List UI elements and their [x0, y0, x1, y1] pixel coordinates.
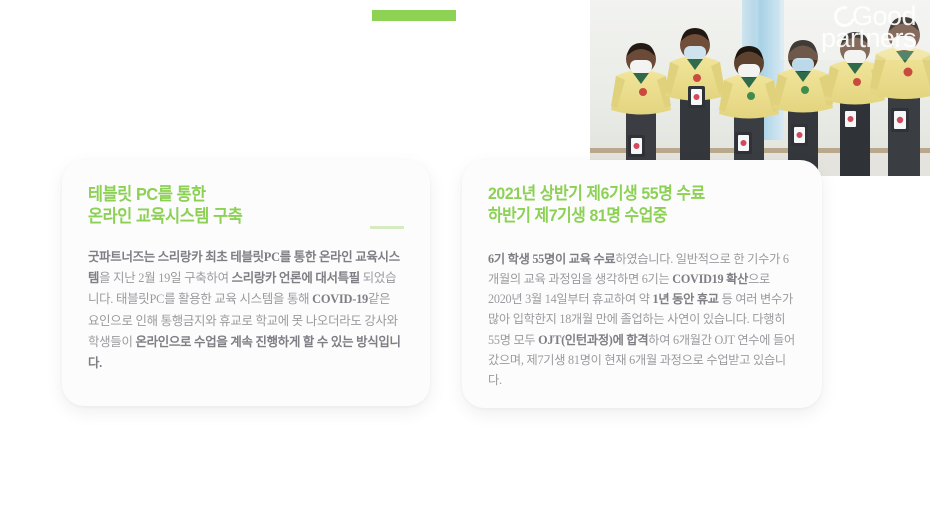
card-title: 2021년 상반기 제6기생 55명 수료 하반기 제7기생 81명 수업중 — [488, 183, 774, 227]
graduation-stats-card[interactable]: 2021년 상반기 제6기생 55명 수료 하반기 제7기생 81명 수업중 6… — [462, 160, 822, 408]
card-content: 테블릿 PC를 통한 온라인 교육시스템 구축 굿파트너즈는 스리랑카 최초 테… — [62, 160, 430, 406]
presentation-slide: Six graduates in yellow polo shirts with… — [0, 0, 930, 523]
graduates-photo: Six graduates in yellow polo shirts with… — [590, 0, 930, 176]
top-accent-bar — [372, 10, 456, 21]
card-title: 테블릿 PC를 통한 온라인 교육시스템 구축 — [88, 183, 382, 228]
card-body-text: 6기 학생 55명이 교육 수료하였습니다. 일반적으로 한 기수가 6개월의 … — [488, 249, 796, 391]
card-body-text: 굿파트너즈는 스리랑카 최초 테블릿PC를 통한 온라인 교육시스템을 지난 2… — [88, 247, 404, 375]
card-content: 2021년 상반기 제6기생 55명 수료 하반기 제7기생 81명 수업중 6… — [462, 160, 822, 408]
title-divider-rule — [370, 226, 404, 229]
tablet-education-card[interactable]: 테블릿 PC를 통한 온라인 교육시스템 구축 굿파트너즈는 스리랑카 최초 테… — [62, 160, 430, 406]
